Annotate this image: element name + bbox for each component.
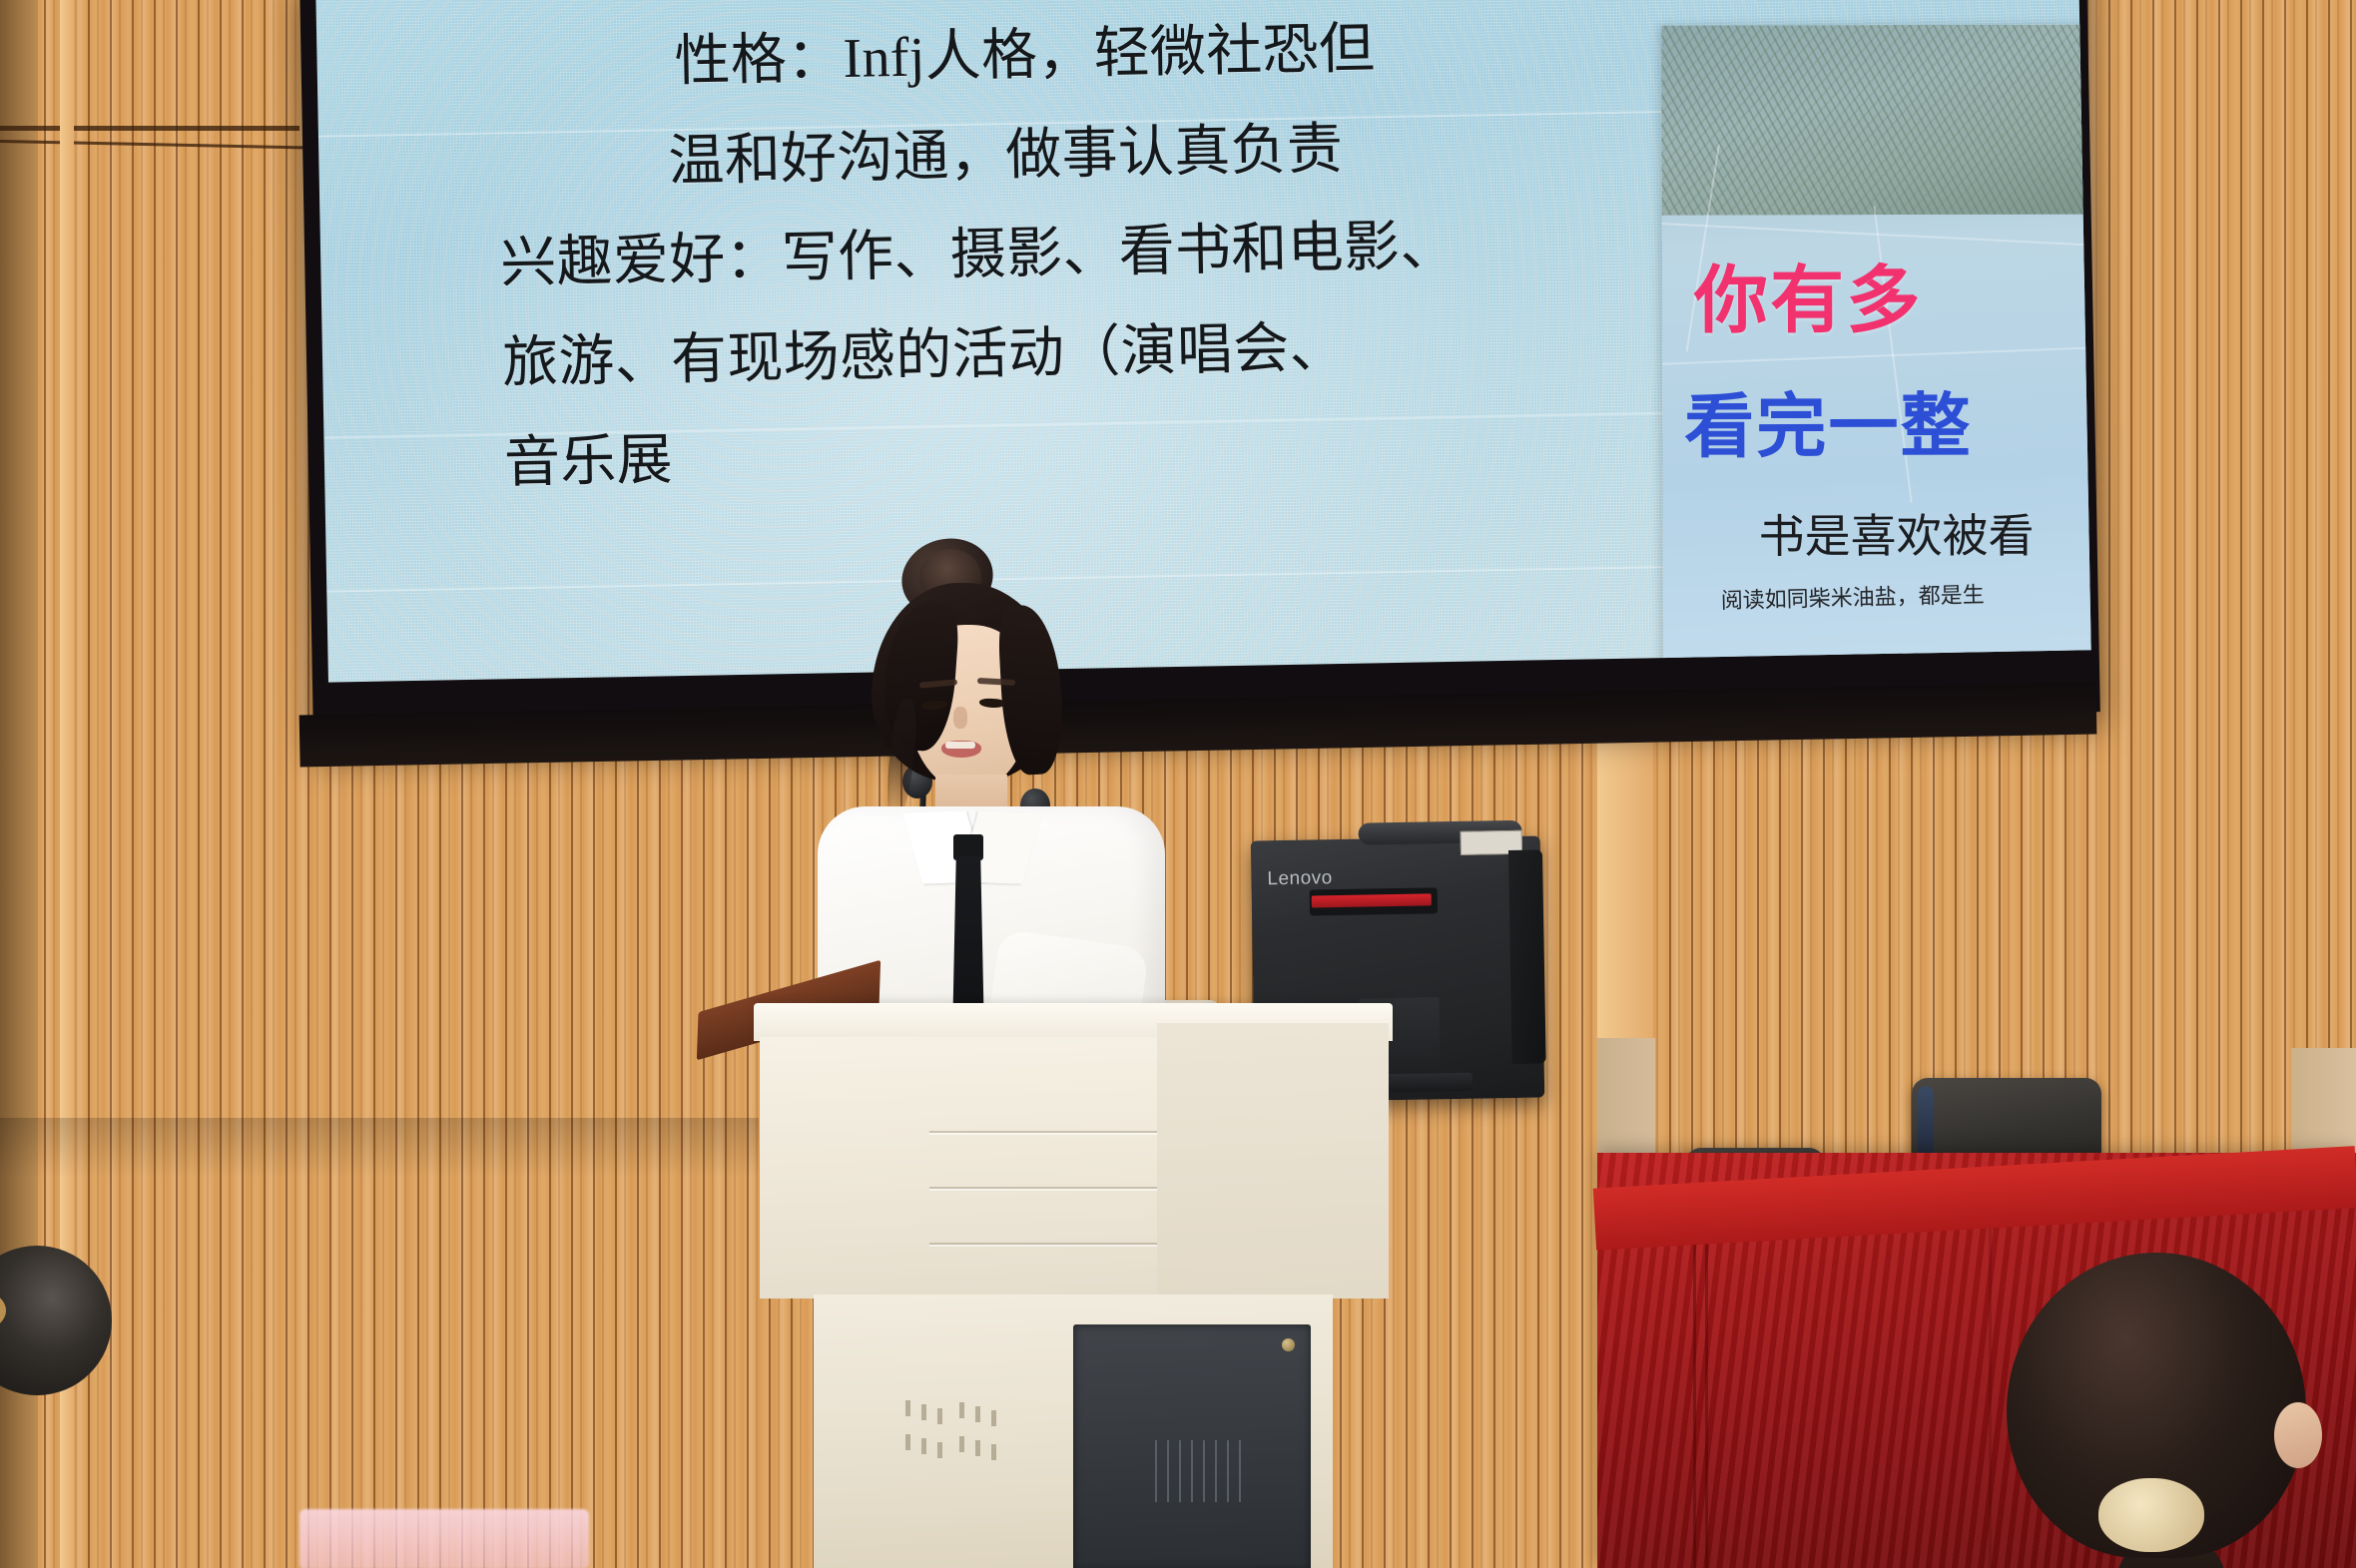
podium-bottom-light-reflection bbox=[299, 1509, 589, 1568]
nose bbox=[953, 707, 967, 729]
wall-horizontal-seam bbox=[0, 126, 299, 131]
monitor-side-bevel bbox=[1508, 849, 1546, 1064]
lenovo-logo: Lenovo bbox=[1267, 867, 1333, 890]
panel-louvre bbox=[1215, 1440, 1217, 1502]
poster-subline: 书是喜欢被看 bbox=[1758, 500, 2034, 567]
tablecloth-fold-3 bbox=[1989, 1193, 1992, 1568]
podium-equipment-panel bbox=[1073, 1324, 1311, 1568]
monitor-red-accent-stripe bbox=[1312, 893, 1432, 907]
chair-trim bbox=[1918, 1086, 1934, 1158]
slide-poster-image: 你有多 看完一整 书是喜欢被看 阅读如同柴米油盐，都是生 bbox=[1661, 25, 2090, 665]
audience-ear bbox=[2274, 1402, 2322, 1468]
panel-lock-screw bbox=[1282, 1338, 1295, 1351]
poster-crease-2 bbox=[1661, 344, 2090, 366]
poster-headline-pink: 你有多 bbox=[1694, 241, 1923, 348]
podium-vent-slot bbox=[921, 1404, 926, 1420]
screen-surface: 性格：Infj人格，轻微社恐但 温和好沟通，做事认真负责 兴趣爱好：写作、摄影、… bbox=[315, 0, 2090, 683]
podium-vent-slot bbox=[921, 1438, 926, 1454]
tablecloth-fold-2 bbox=[1705, 1233, 1708, 1568]
slide-line-3: 兴趣爱好：写作、摄影、看书和电影、 bbox=[499, 196, 1579, 314]
panel-louvre bbox=[1191, 1440, 1193, 1502]
panel-louvre bbox=[1155, 1440, 1157, 1502]
lectern-podium bbox=[754, 1003, 1393, 1568]
audience-hair-scrunchie bbox=[2098, 1478, 2204, 1552]
tablecloth-fold-1 bbox=[1693, 1225, 1696, 1568]
podium-vent-slot bbox=[975, 1440, 980, 1456]
poster-photo-top bbox=[1661, 25, 2090, 216]
photo-scene: 性格：Infj人格，轻微社恐但 温和好沟通，做事认真负责 兴趣爱好：写作、摄影、… bbox=[0, 0, 2356, 1568]
podium-vent-slot bbox=[937, 1408, 942, 1424]
podium-vent-slot bbox=[905, 1434, 910, 1450]
slide-line-4: 旅游、有现场感的活动（演唱会、 bbox=[501, 295, 1581, 414]
podium-vent-slot bbox=[959, 1402, 964, 1418]
slide-text-block: 性格：Infj人格，轻微社恐但 温和好沟通，做事认真负责 兴趣爱好：写作、摄影、… bbox=[496, 0, 1583, 514]
podium-right-face bbox=[1157, 1023, 1389, 1299]
podium-vent-slot bbox=[959, 1436, 964, 1452]
panel-louvre bbox=[1227, 1440, 1229, 1502]
poster-caption: 阅读如同柴米油盐，都是生 bbox=[1720, 577, 1985, 615]
panel-louvre bbox=[1203, 1440, 1205, 1502]
podium-vent-slot bbox=[905, 1400, 910, 1416]
panel-louvre bbox=[1179, 1440, 1181, 1502]
audience-member bbox=[2007, 1253, 2336, 1568]
podium-vent-slot bbox=[991, 1444, 996, 1460]
poster-headline-blue: 看完一整 bbox=[1684, 370, 1973, 472]
panel-louvre bbox=[1239, 1440, 1241, 1502]
slide-line-2: 温和好沟通，做事认真负责 bbox=[498, 96, 1578, 215]
podium-vent-slot bbox=[991, 1410, 996, 1426]
slide-line-5: 音乐展 bbox=[503, 394, 1583, 513]
podium-vent-slot bbox=[937, 1442, 942, 1458]
led-presentation-screen: 性格：Infj人格，轻微社恐但 温和好沟通，做事认真负责 兴趣爱好：写作、摄影、… bbox=[299, 0, 2100, 745]
wall-shadow bbox=[0, 1118, 759, 1178]
panel-louvre bbox=[1167, 1440, 1169, 1502]
podium-vent-slot bbox=[975, 1406, 980, 1422]
teeth bbox=[945, 742, 975, 749]
